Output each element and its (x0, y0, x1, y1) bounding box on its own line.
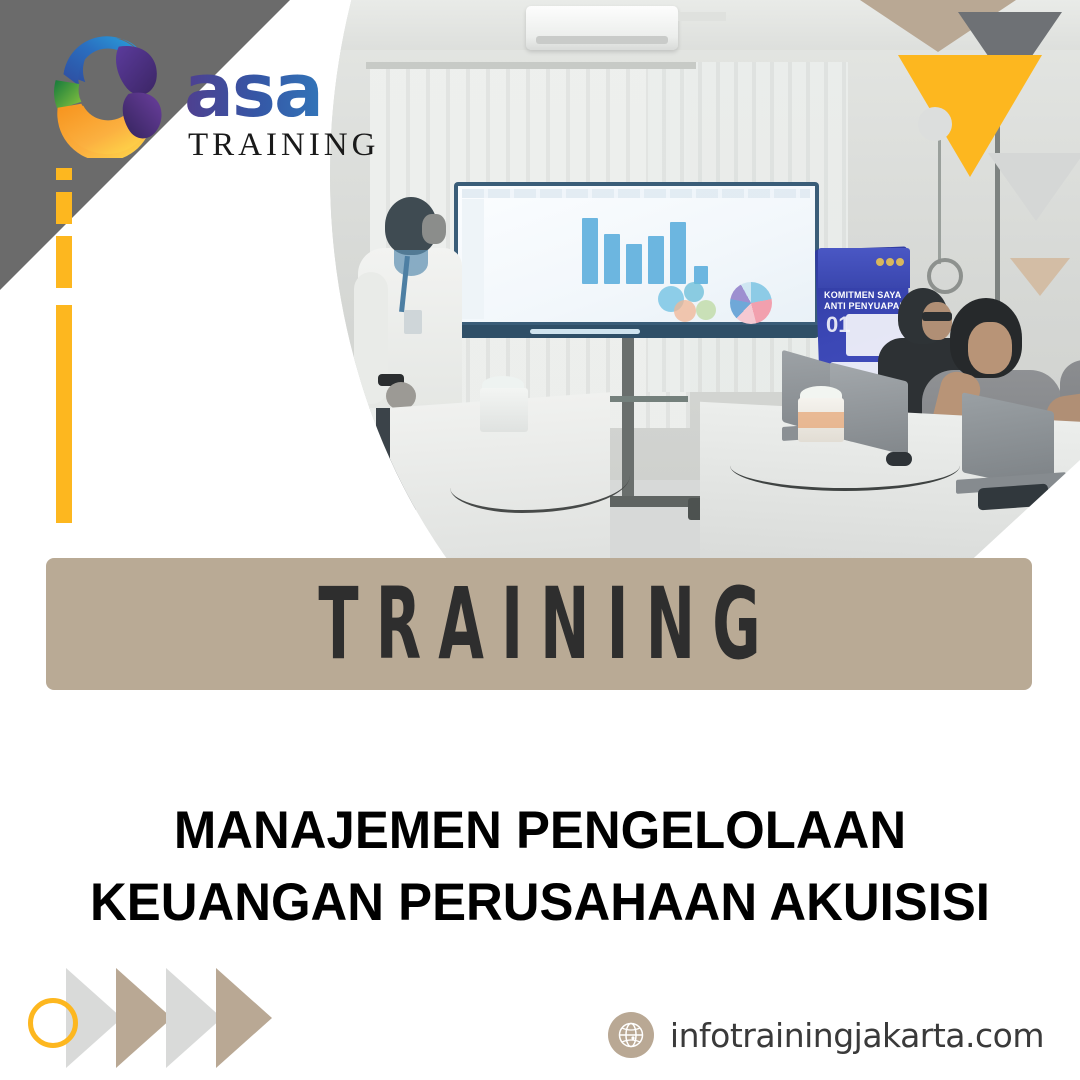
dashboard-bar (670, 222, 686, 284)
presenter-face (422, 214, 446, 244)
display-screen-strip (530, 329, 640, 334)
dashboard-bubble (674, 300, 696, 322)
yellow-bar-3 (56, 236, 72, 288)
participant-glasses (922, 312, 952, 321)
headline-line-1: MANAJEMEN PENGELOLAAN (22, 795, 1059, 867)
light-circle-icon (918, 107, 952, 141)
blind-rail (366, 62, 696, 69)
dashboard-sidebar (462, 199, 484, 319)
dashboard-bubble (696, 300, 716, 320)
tan-triangle-small-icon (1010, 258, 1070, 296)
light-grey-triangle-icon (988, 153, 1080, 221)
page-title: MANAJEMEN PENGELOLAAN KEUANGAN PERUSAHAA… (0, 795, 1080, 939)
air-conditioner-vent (536, 36, 668, 44)
poster-canvas: KOMITMEN SAYA ANTI PENYUAPAN 01 02 (0, 0, 1080, 1080)
presenter-collar (394, 250, 428, 276)
globe-icon (608, 1012, 654, 1058)
hanging-ring (927, 258, 963, 294)
yellow-circle-outline-icon (28, 998, 78, 1048)
brand-tagline: TRAINING (188, 128, 379, 162)
poster-headline-line1: KOMITMEN SAYA (824, 290, 901, 300)
yellow-bar-4 (56, 305, 72, 523)
training-banner: TRAINING (46, 558, 1032, 690)
cable (730, 440, 960, 491)
website-url[interactable]: infotrainingjakarta.com (670, 1016, 1044, 1055)
chevron-arrow-icon (216, 968, 272, 1068)
dashboard-toolbar (462, 189, 810, 198)
chevron-arrow-icon (116, 968, 172, 1068)
website-footer[interactable]: infotrainingjakarta.com (608, 1010, 1044, 1060)
tissue-box (480, 388, 528, 432)
air-conditioner-pipe (678, 12, 726, 21)
dashboard-bar (648, 236, 664, 284)
headline-line-2: KEUANGAN PERUSAHAAN AKUISISI (22, 867, 1059, 939)
poster-dot (896, 258, 904, 266)
yellow-bar-1 (56, 168, 72, 180)
training-banner-label: TRAINING (301, 566, 778, 682)
poster-headline-line2: ANTI PENYUAPAN (824, 301, 906, 311)
chevron-arrow-icon (166, 968, 222, 1068)
poster-dot (886, 258, 894, 266)
brand-wordmark: asa TRAINING (184, 56, 379, 162)
yellow-bar-2 (56, 192, 72, 224)
brand-name: asa (184, 56, 379, 126)
tissue-box-band (798, 412, 844, 428)
poster-headline: KOMITMEN SAYA ANTI PENYUAPAN (824, 290, 908, 312)
poster-dot (876, 258, 884, 266)
dashboard-bar (626, 244, 642, 284)
dashboard-bar (604, 234, 620, 284)
presenter-badge (404, 310, 422, 334)
chevron-decoration (18, 968, 348, 1068)
asa-circular-swoosh-logo-icon (34, 18, 172, 158)
dashboard-pie-chart (730, 282, 772, 324)
dashboard-bar (582, 218, 598, 284)
participant-face (922, 302, 952, 340)
participant-face (968, 322, 1012, 374)
dashboard-bubble (684, 282, 704, 302)
poster-header (818, 248, 910, 288)
